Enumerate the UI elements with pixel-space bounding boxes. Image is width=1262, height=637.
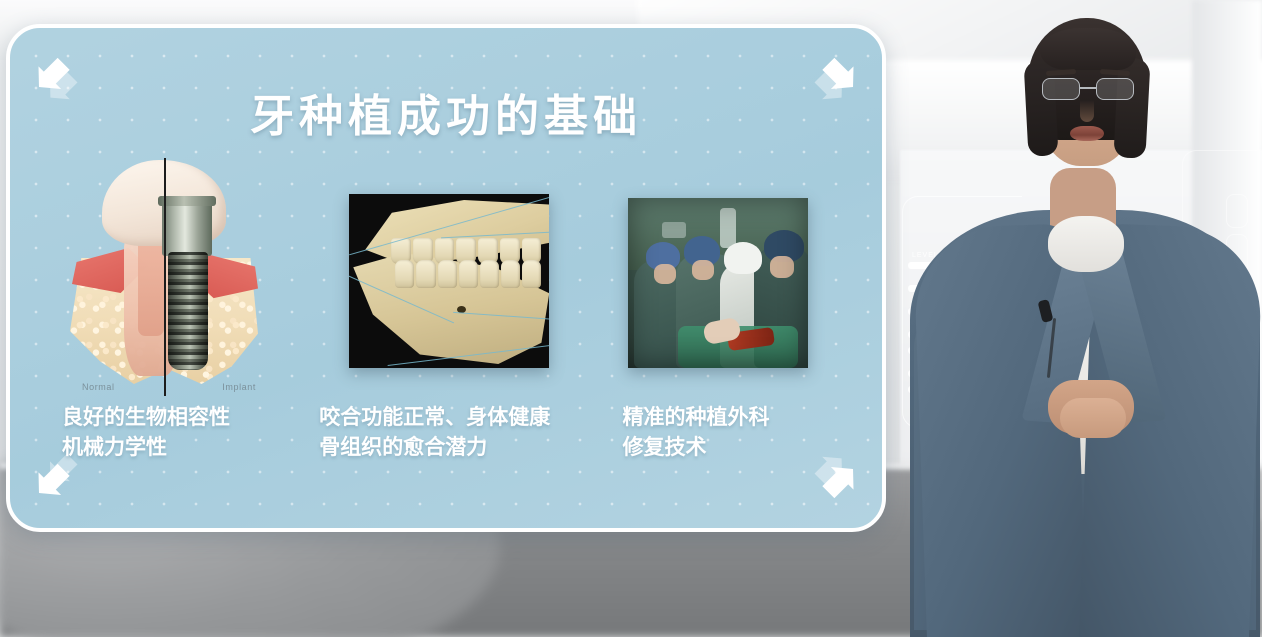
implant-screw-fixture xyxy=(168,252,208,370)
slide-column-1: Normal Implant 良好的生物相容性 机械力学性 xyxy=(10,156,307,486)
dental-implant-diagram: Normal Implant xyxy=(64,160,264,396)
slide-column-2: 咬合功能正常、身体健康 骨组织的愈合潜力 xyxy=(307,156,614,486)
slide-columns: Normal Implant 良好的生物相容性 机械力学性 xyxy=(10,156,882,486)
photo-vignette xyxy=(628,198,808,368)
implant-abutment xyxy=(162,200,212,256)
tooth xyxy=(522,260,541,288)
eyeglasses-icon xyxy=(1042,78,1134,102)
tooth xyxy=(416,260,435,288)
presenter-collar xyxy=(1048,216,1124,272)
tooth xyxy=(395,260,414,288)
eyeglass-bridge xyxy=(1080,87,1096,89)
diagram-label-implant: Implant xyxy=(222,382,256,392)
tooth xyxy=(459,260,478,288)
jaw-bone-photo xyxy=(349,194,549,368)
eyeglass-lens-left xyxy=(1042,78,1080,100)
implant-abutment-cap xyxy=(158,196,216,206)
eyeglass-lens-right xyxy=(1096,78,1134,100)
surgery-photo xyxy=(628,198,808,368)
lower-teeth-row xyxy=(395,260,541,288)
column-2-caption: 咬合功能正常、身体健康 骨组织的愈合潜力 xyxy=(319,402,619,463)
tooth xyxy=(438,260,457,288)
presenter-figure xyxy=(900,0,1262,637)
presenter-hands-overlap xyxy=(1060,398,1126,438)
slide-title: 牙种植成功的基础 xyxy=(10,80,882,144)
tooth xyxy=(501,260,520,288)
presenter-mouth xyxy=(1070,126,1104,141)
presenter-bangs xyxy=(1040,28,1136,70)
column-3-caption: 精准的种植外科 修复技术 xyxy=(622,402,882,463)
diagram-label-normal: Normal xyxy=(82,382,115,392)
presenter-nose xyxy=(1080,100,1094,122)
tooth xyxy=(480,260,499,288)
slide-column-3: 精准的种植外科 修复技术 xyxy=(614,156,882,486)
slide-panel: 牙种植成功的基础 Normal Implant 良好的生物相容性 机械力学性 xyxy=(6,24,886,532)
diagram-divider-line xyxy=(164,158,166,396)
column-1-caption: 良好的生物相容性 机械力学性 xyxy=(62,402,312,463)
